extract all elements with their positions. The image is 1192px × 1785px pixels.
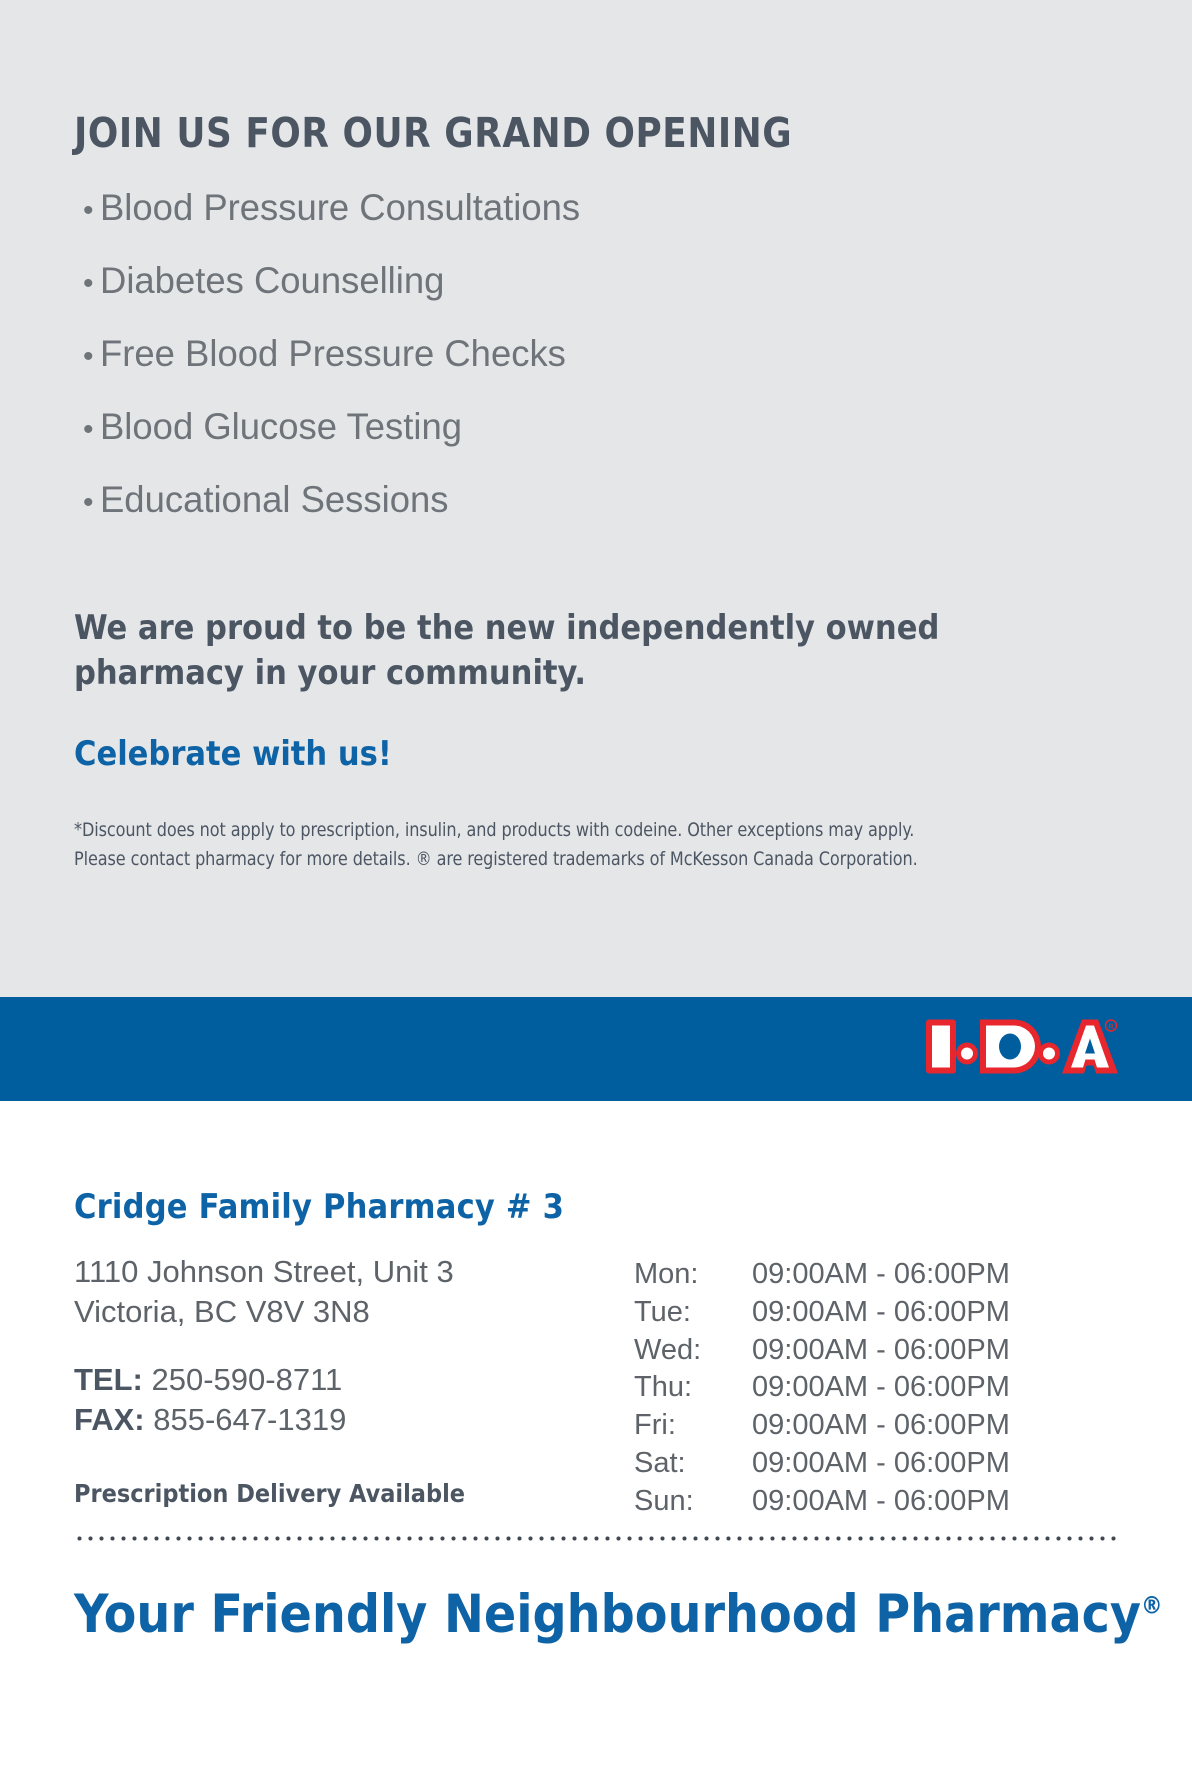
hours-time: 09:00AM - 06:00PM [752,1483,1118,1521]
telephone-row: TEL: 250-590-8711 [74,1360,634,1400]
address-line-1: 1110 Johnson Street, Unit 3 [74,1252,634,1292]
hours-day: Thu: [634,1369,752,1407]
fax-value[interactable]: 855-647-1319 [153,1402,346,1437]
store-columns: 1110 Johnson Street, Unit 3 Victoria, BC… [74,1226,1118,1520]
table-row: Fri: 09:00AM - 06:00PM [634,1407,1118,1445]
table-row: Sat: 09:00AM - 06:00PM [634,1445,1118,1483]
list-item: • Blood Pressure Consultations [74,189,1118,262]
hours-day: Tue: [634,1294,752,1332]
hours-time: 09:00AM - 06:00PM [752,1369,1118,1407]
bullet-icon: • [74,415,100,445]
hours-day: Sat: [634,1445,752,1483]
list-item: • Free Blood Pressure Checks [74,335,1118,408]
registered-trademark-icon: ® [1141,1592,1163,1620]
fax-label: FAX: [74,1402,145,1437]
list-item: • Educational Sessions [74,481,1118,554]
hours-day: Sun: [634,1483,752,1521]
bullet-icon: • [74,342,100,372]
svg-text:R: R [1108,1024,1113,1031]
store-hours-column: Mon: 09:00AM - 06:00PM Tue: 09:00AM - 06… [634,1252,1118,1520]
table-row: Mon: 09:00AM - 06:00PM [634,1256,1118,1294]
table-row: Tue: 09:00AM - 06:00PM [634,1294,1118,1332]
service-label: Free Blood Pressure Checks [100,335,566,372]
hours-day: Fri: [634,1407,752,1445]
table-row: Thu: 09:00AM - 06:00PM [634,1369,1118,1407]
table-row: Sun: 09:00AM - 06:00PM [634,1483,1118,1521]
hours-time: 09:00AM - 06:00PM [752,1445,1118,1483]
store-contact-column: 1110 Johnson Street, Unit 3 Victoria, BC… [74,1252,634,1507]
fax-row: FAX: 855-647-1319 [74,1400,634,1440]
bullet-icon: • [74,196,100,226]
disclaimer-line-2: Please contact pharmacy for more details… [74,845,958,874]
promo-heading: JOIN US FOR OUR GRAND OPENING [74,0,1087,155]
hours-day: Mon: [634,1256,752,1294]
hours-time: 09:00AM - 06:00PM [752,1294,1118,1332]
promo-panel: JOIN US FOR OUR GRAND OPENING • Blood Pr… [0,0,1192,997]
celebrate-callout: Celebrate with us! [74,696,1118,773]
brand-band: R [0,997,1192,1101]
address-line-2: Victoria, BC V8V 3N8 [74,1292,634,1332]
service-label: Educational Sessions [100,481,448,518]
hours-time: 09:00AM - 06:00PM [752,1256,1118,1294]
hours-time: 09:00AM - 06:00PM [752,1407,1118,1445]
list-item: • Blood Glucose Testing [74,408,1118,481]
service-label: Blood Glucose Testing [100,408,462,445]
telephone-value[interactable]: 250-590-8711 [152,1362,343,1397]
ida-logo: R [922,1016,1118,1083]
telephone-label: TEL: [74,1362,143,1397]
services-list: • Blood Pressure Consultations • Diabete… [74,155,1118,554]
store-info-section: Cridge Family Pharmacy # 3 1110 Johnson … [0,1101,1192,1520]
footer-tagline: Your Friendly Neighbourhood Pharmacy® [0,1541,1192,1643]
tagline-text: Your Friendly Neighbourhood Pharmacy [74,1584,1141,1645]
hours-day: Wed: [634,1332,752,1370]
proud-statement: We are proud to be the new independently… [74,554,954,696]
delivery-note: Prescription Delivery Available [74,1440,634,1508]
disclaimer-text: *Discount does not apply to prescription… [74,774,1014,875]
contact-block: TEL: 250-590-8711 FAX: 855-647-1319 [74,1332,634,1441]
service-label: Diabetes Counselling [100,262,444,299]
hours-table: Mon: 09:00AM - 06:00PM Tue: 09:00AM - 06… [634,1256,1118,1520]
disclaimer-line-1: *Discount does not apply to prescription… [74,816,958,845]
list-item: • Diabetes Counselling [74,262,1118,335]
service-label: Blood Pressure Consultations [100,189,580,226]
bullet-icon: • [74,488,100,518]
hours-time: 09:00AM - 06:00PM [752,1332,1118,1370]
store-name: Cridge Family Pharmacy # 3 [74,1101,1118,1226]
table-row: Wed: 09:00AM - 06:00PM [634,1332,1118,1370]
bullet-icon: • [74,269,100,299]
